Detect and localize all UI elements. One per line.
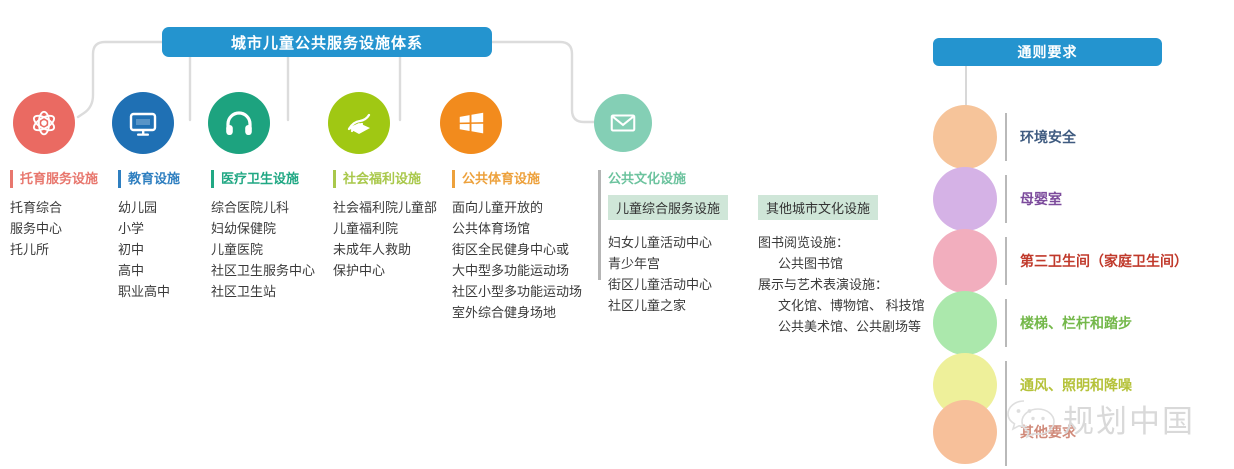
column-health: 医疗卫生设施 综合医院儿科 妇幼保健院 儿童医院 社区卫生服务中心 社区卫生站 xyxy=(211,170,315,302)
requirement-row[interactable]: 环境安全 xyxy=(920,105,1234,169)
atom-icon xyxy=(29,108,59,138)
infographic-root: 城市儿童公共服务设施体系 xyxy=(0,0,1234,469)
node-circle-health[interactable] xyxy=(208,92,270,154)
column-header: 公共文化设施 xyxy=(608,170,925,188)
list-item: 社区小型多功能运动场 xyxy=(452,281,582,302)
subgroup-header: 儿童综合服务设施 xyxy=(608,195,728,220)
column-header: 医疗卫生设施 xyxy=(211,170,299,188)
node-circle-education[interactable] xyxy=(112,92,174,154)
list-item: 图书阅览设施： xyxy=(758,232,925,253)
requirement-label: 母婴室 xyxy=(1020,189,1062,209)
subgroup-header: 其他城市文化设施 xyxy=(758,195,878,220)
list-item: 社区卫生服务中心 xyxy=(211,260,315,281)
node-circle-childcare[interactable] xyxy=(13,92,75,154)
requirements-title: 通则要求 xyxy=(933,38,1162,66)
column-header: 公共体育设施 xyxy=(452,170,540,188)
column-header: 教育设施 xyxy=(118,170,180,188)
list-item: 街区全民健身中心或 xyxy=(452,239,582,260)
list-item: 公共图书馆 xyxy=(758,253,925,274)
list-item: 儿童医院 xyxy=(211,239,315,260)
column-welfare: 社会福利设施 社会福利院儿童部 儿童福利院 未成年人救助 保护中心 xyxy=(333,170,437,281)
column-education: 教育设施 幼儿园 小学 初中 高中 职业高中 xyxy=(118,170,180,302)
requirement-divider xyxy=(1005,237,1007,285)
requirement-dot xyxy=(933,229,997,293)
culture-subgroup-b: 其他城市文化设施 图书阅览设施： 公共图书馆 展示与艺术表演设施： 文化馆、博物… xyxy=(758,195,925,337)
list-item: 青少年宫 xyxy=(608,253,728,274)
requirement-divider xyxy=(1005,408,1007,466)
envelope-icon xyxy=(608,108,638,138)
requirement-divider xyxy=(1005,113,1007,161)
column-items: 妇女儿童活动中心 青少年宫 街区儿童活动中心 社区儿童之家 xyxy=(608,232,728,316)
column-items: 社会福利院儿童部 儿童福利院 未成年人救助 保护中心 xyxy=(333,197,437,281)
list-item: 室外综合健身场地 xyxy=(452,302,582,323)
list-item: 妇幼保健院 xyxy=(211,218,315,239)
list-item: 大中型多功能运动场 xyxy=(452,260,582,281)
book-icon xyxy=(343,107,375,139)
requirement-row[interactable]: 其他要求 xyxy=(920,400,1234,464)
list-item: 妇女儿童活动中心 xyxy=(608,232,728,253)
node-circle-sports[interactable] xyxy=(440,92,502,154)
list-item: 托儿所 xyxy=(10,239,98,260)
list-item: 职业高中 xyxy=(118,281,180,302)
column-header: 社会福利设施 xyxy=(333,170,421,188)
node-circle-culture[interactable] xyxy=(594,94,652,152)
list-item: 高中 xyxy=(118,260,180,281)
list-item: 初中 xyxy=(118,239,180,260)
column-header: 托育服务设施 xyxy=(10,170,98,188)
list-item: 综合医院儿科 xyxy=(211,197,315,218)
headphones-icon xyxy=(223,107,255,139)
requirement-dot xyxy=(933,105,997,169)
list-item: 未成年人救助 xyxy=(333,239,437,260)
requirement-row[interactable]: 楼梯、栏杆和踏步 xyxy=(920,291,1234,355)
list-item: 儿童福利院 xyxy=(333,218,437,239)
list-item: 小学 xyxy=(118,218,180,239)
column-culture: 公共文化设施 儿童综合服务设施 妇女儿童活动中心 青少年宫 街区儿童活动中心 社… xyxy=(598,170,925,280)
requirement-dot xyxy=(933,291,997,355)
list-item: 社区卫生站 xyxy=(211,281,315,302)
requirement-label: 环境安全 xyxy=(1020,127,1076,147)
column-items: 托育综合 服务中心 托儿所 xyxy=(10,197,98,260)
column-childcare: 托育服务设施 托育综合 服务中心 托儿所 xyxy=(10,170,98,260)
list-item: 展示与艺术表演设施： xyxy=(758,274,925,295)
requirement-label: 第三卫生间（家庭卫生间） xyxy=(1020,251,1188,271)
node-circle-welfare[interactable] xyxy=(328,92,390,154)
list-item: 文化馆、博物馆、 科技馆 xyxy=(758,295,925,316)
list-item: 社会福利院儿童部 xyxy=(333,197,437,218)
requirement-divider xyxy=(1005,299,1007,347)
list-item: 面向儿童开放的 xyxy=(452,197,582,218)
column-items: 面向儿童开放的 公共体育场馆 街区全民健身中心或 大中型多功能运动场 社区小型多… xyxy=(452,197,582,323)
monitor-icon xyxy=(127,107,159,139)
general-requirements-panel: 通则要求 环境安全 母婴室 第三卫生间（家庭卫生间） 楼梯、栏杆和踏步 通风、照… xyxy=(920,0,1234,469)
column-items: 幼儿园 小学 初中 高中 职业高中 xyxy=(118,197,180,302)
list-item: 保护中心 xyxy=(333,260,437,281)
list-item: 托育综合 xyxy=(10,197,98,218)
list-item: 服务中心 xyxy=(10,218,98,239)
windows-icon xyxy=(456,108,486,138)
list-item: 公共体育场馆 xyxy=(452,218,582,239)
facility-system-diagram: 城市儿童公共服务设施体系 xyxy=(0,0,920,469)
culture-subgroup-a: 儿童综合服务设施 妇女儿童活动中心 青少年宫 街区儿童活动中心 社区儿童之家 xyxy=(608,195,728,337)
list-item: 幼儿园 xyxy=(118,197,180,218)
list-item: 公共美术馆、公共剧场等 xyxy=(758,316,925,337)
requirement-row[interactable]: 母婴室 xyxy=(920,167,1234,231)
list-item: 社区儿童之家 xyxy=(608,295,728,316)
list-item: 街区儿童活动中心 xyxy=(608,274,728,295)
column-items: 综合医院儿科 妇幼保健院 儿童医院 社区卫生服务中心 社区卫生站 xyxy=(211,197,315,302)
column-sports: 公共体育设施 面向儿童开放的 公共体育场馆 街区全民健身中心或 大中型多功能运动… xyxy=(452,170,582,323)
column-items: 图书阅览设施： 公共图书馆 展示与艺术表演设施： 文化馆、博物馆、 科技馆 公共… xyxy=(758,232,925,337)
requirement-label: 其他要求 xyxy=(1020,422,1076,442)
requirement-dot xyxy=(933,400,997,464)
requirement-label: 楼梯、栏杆和踏步 xyxy=(1020,313,1132,333)
requirement-row[interactable]: 第三卫生间（家庭卫生间） xyxy=(920,229,1234,293)
diagram-title: 城市儿童公共服务设施体系 xyxy=(162,27,492,57)
requirement-dot xyxy=(933,167,997,231)
requirement-label: 通风、照明和降噪 xyxy=(1020,375,1132,395)
requirement-divider xyxy=(1005,175,1007,223)
